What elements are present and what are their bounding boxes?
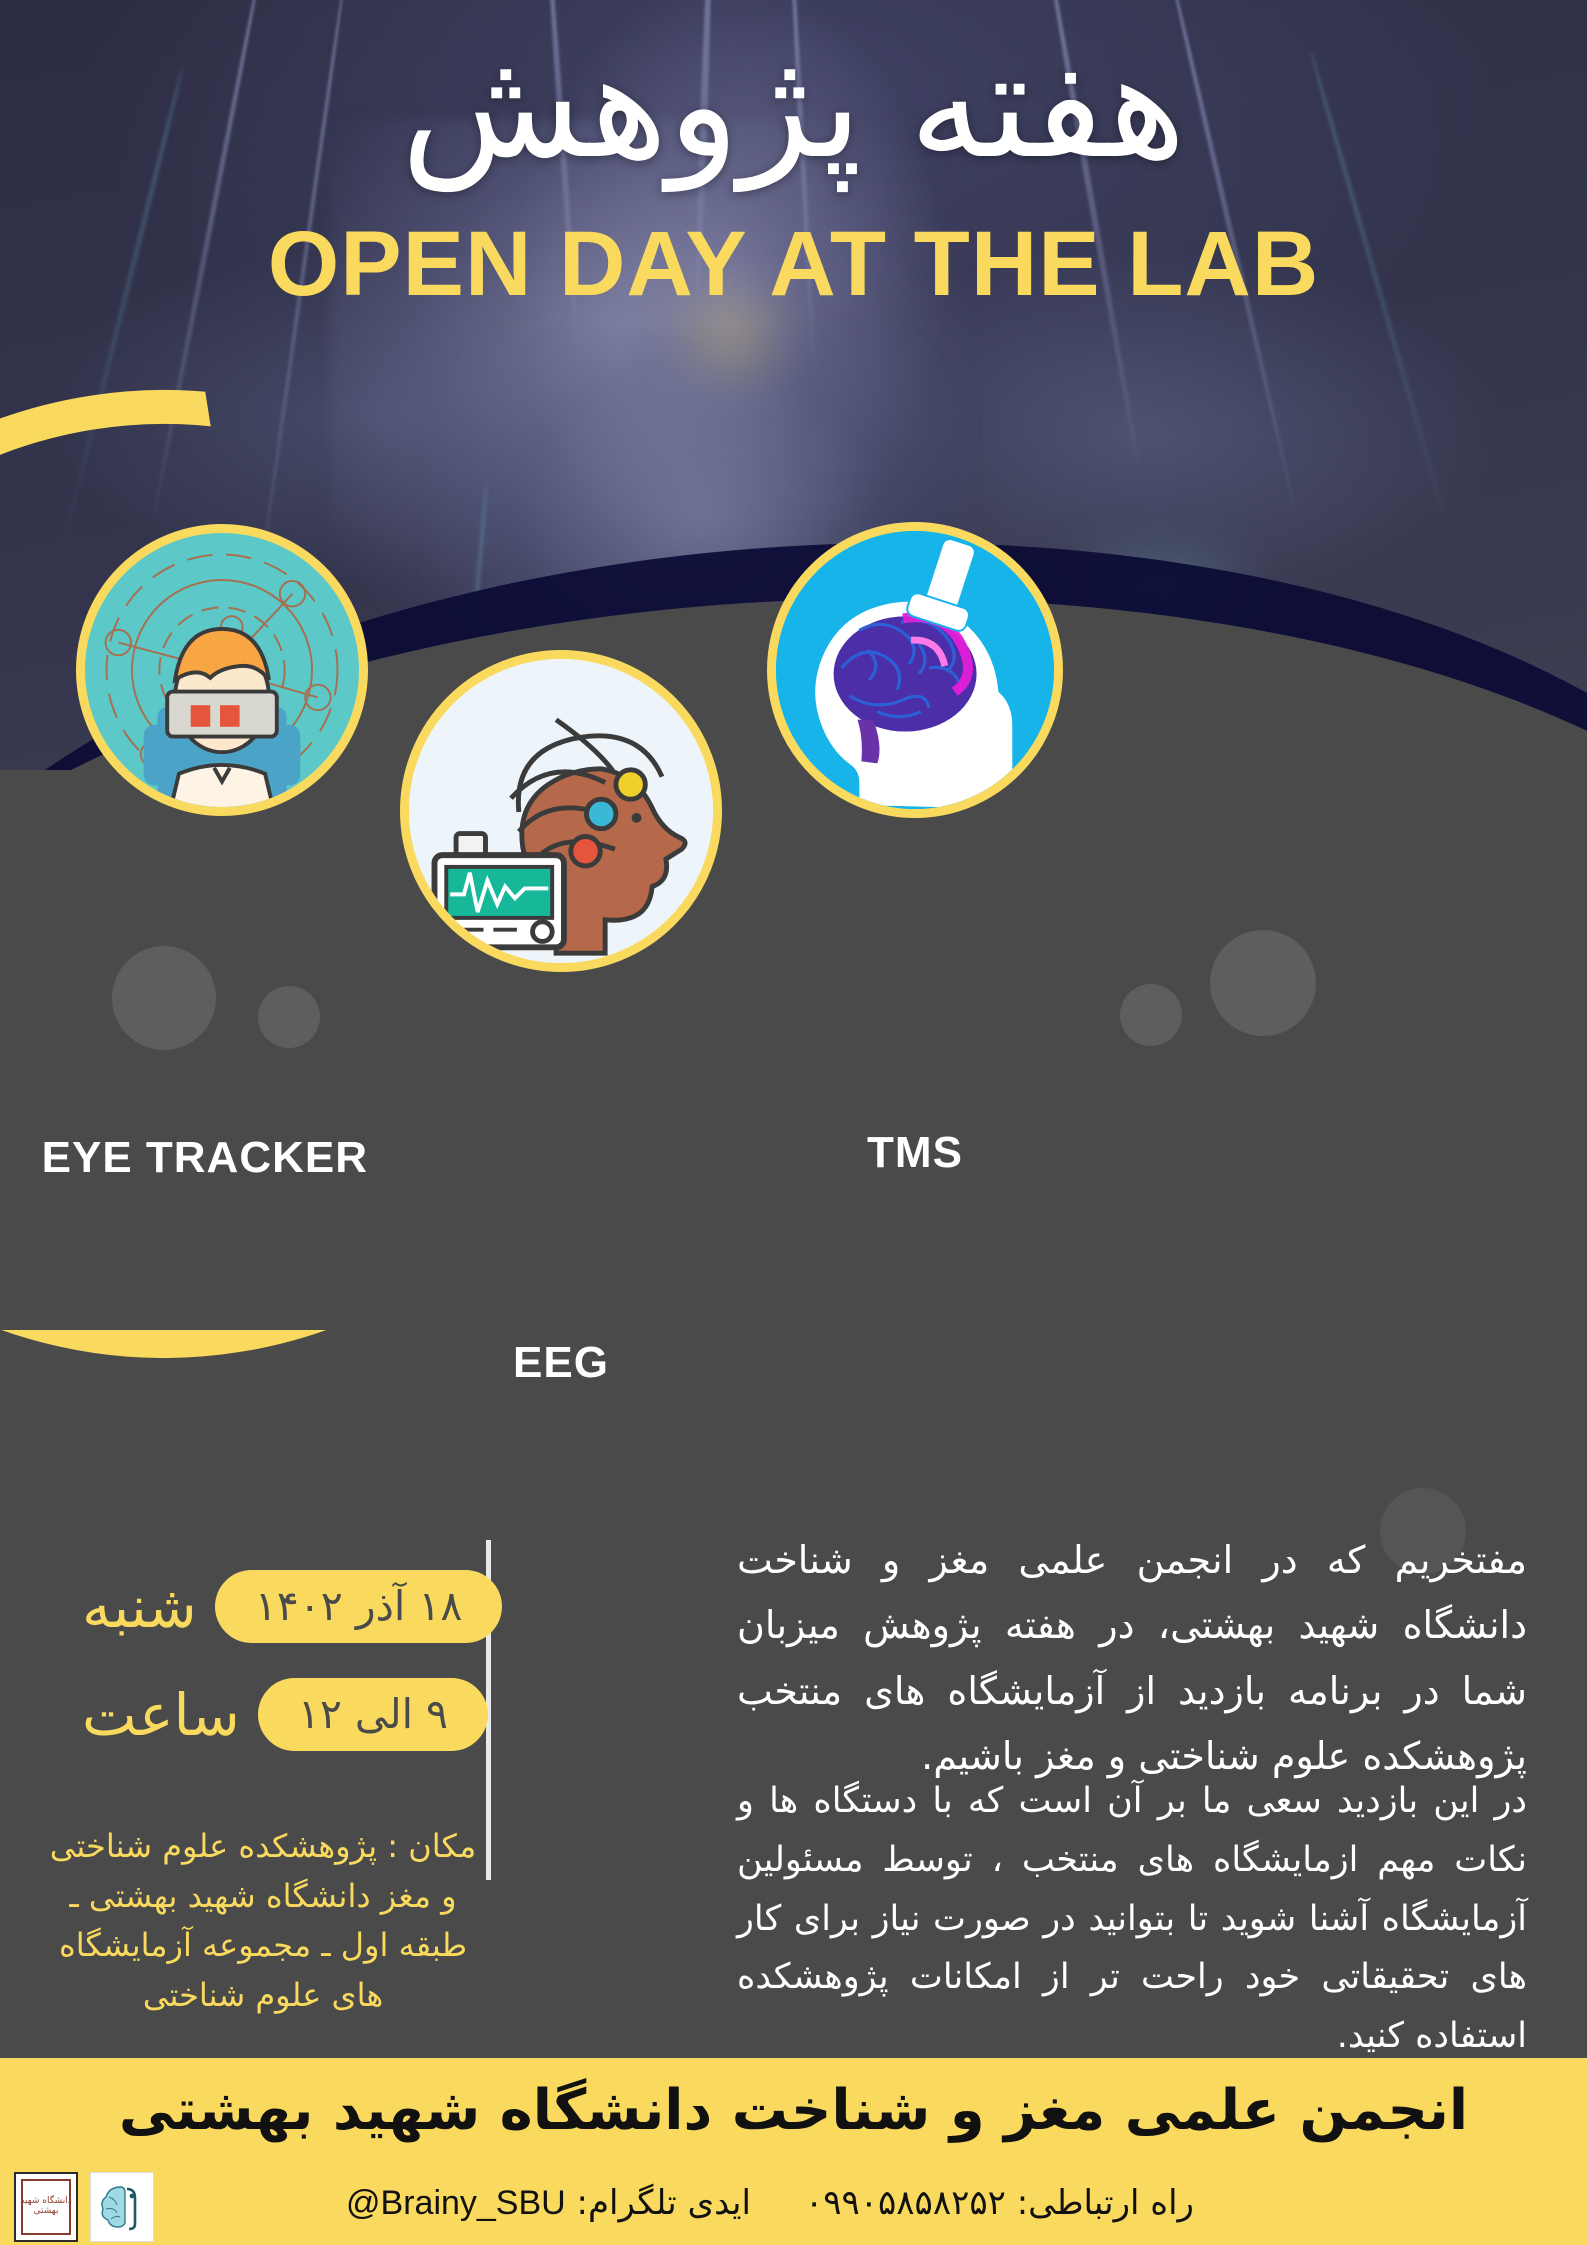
location-text: مکان : پژوهشکده علوم شناختی و مغز دانشگا… (48, 1822, 478, 2020)
poster-root: هفته پژوهش OPEN DAY AT THE LAB (0, 0, 1587, 2245)
eeg-icon (409, 659, 713, 963)
brain-logo-icon (101, 2183, 143, 2231)
decorative-dot (112, 946, 216, 1050)
description-paragraph-1: مفتخریم که در انجمن علمی مغز و شناخت دان… (737, 1528, 1527, 1789)
organization-name: انجمن علمی مغز و شناخت دانشگاه شهید بهشت… (0, 2078, 1587, 2143)
contact-phone: ۰۹۹۰۵۸۵۸۲۵۲ (805, 2183, 1006, 2223)
contact-row: راه ارتباطی: ۰۹۹۰۵۸۵۸۲۵۲ ایدی تلگرام: @B… (0, 2183, 1540, 2223)
sbu-logo-text: دانشگاه شهید بهشتی (16, 2174, 76, 2240)
decorative-dot (258, 986, 320, 1048)
eeg-circle[interactable] (400, 650, 722, 972)
date-pill: ۱۸ آذر ۱۴۰۲ (215, 1570, 503, 1643)
tms-icon (776, 531, 1054, 809)
eye-tracker-circle[interactable] (76, 524, 368, 816)
date-row: ۱۸ آذر ۱۴۰۲ شنبه (60, 1570, 480, 1643)
association-brain-logo (90, 2172, 154, 2242)
tms-label: TMS (767, 1128, 1063, 1178)
sbu-university-logo: دانشگاه شهید بهشتی (14, 2172, 78, 2242)
eye-tracker-label: EYE TRACKER (76, 1133, 368, 1183)
page-title-en: OPEN DAY AT THE LAB (0, 218, 1587, 310)
decorative-dot (1120, 984, 1182, 1046)
time-label: ساعت (82, 1686, 240, 1744)
decorative-dot (1210, 930, 1316, 1036)
time-pill: ۹ الی ۱۲ (258, 1678, 488, 1751)
contact-label: راه ارتباطی: (1017, 2183, 1194, 2223)
telegram-handle[interactable]: @Brainy_SBU (346, 2184, 566, 2223)
eye-tracker-icon (85, 533, 359, 807)
page-title-fa: هفته پژوهش (0, 28, 1587, 183)
description-paragraph-2: در این بازدید سعی ما بر آن است که با دست… (737, 1772, 1527, 2066)
time-row: ۹ الی ۱۲ ساعت (60, 1678, 480, 1751)
telegram-label: ایدی تلگرام: (577, 2183, 751, 2223)
tms-circle[interactable] (767, 522, 1063, 818)
eeg-label: EEG (400, 1338, 722, 1388)
day-label: شنبه (82, 1578, 197, 1636)
